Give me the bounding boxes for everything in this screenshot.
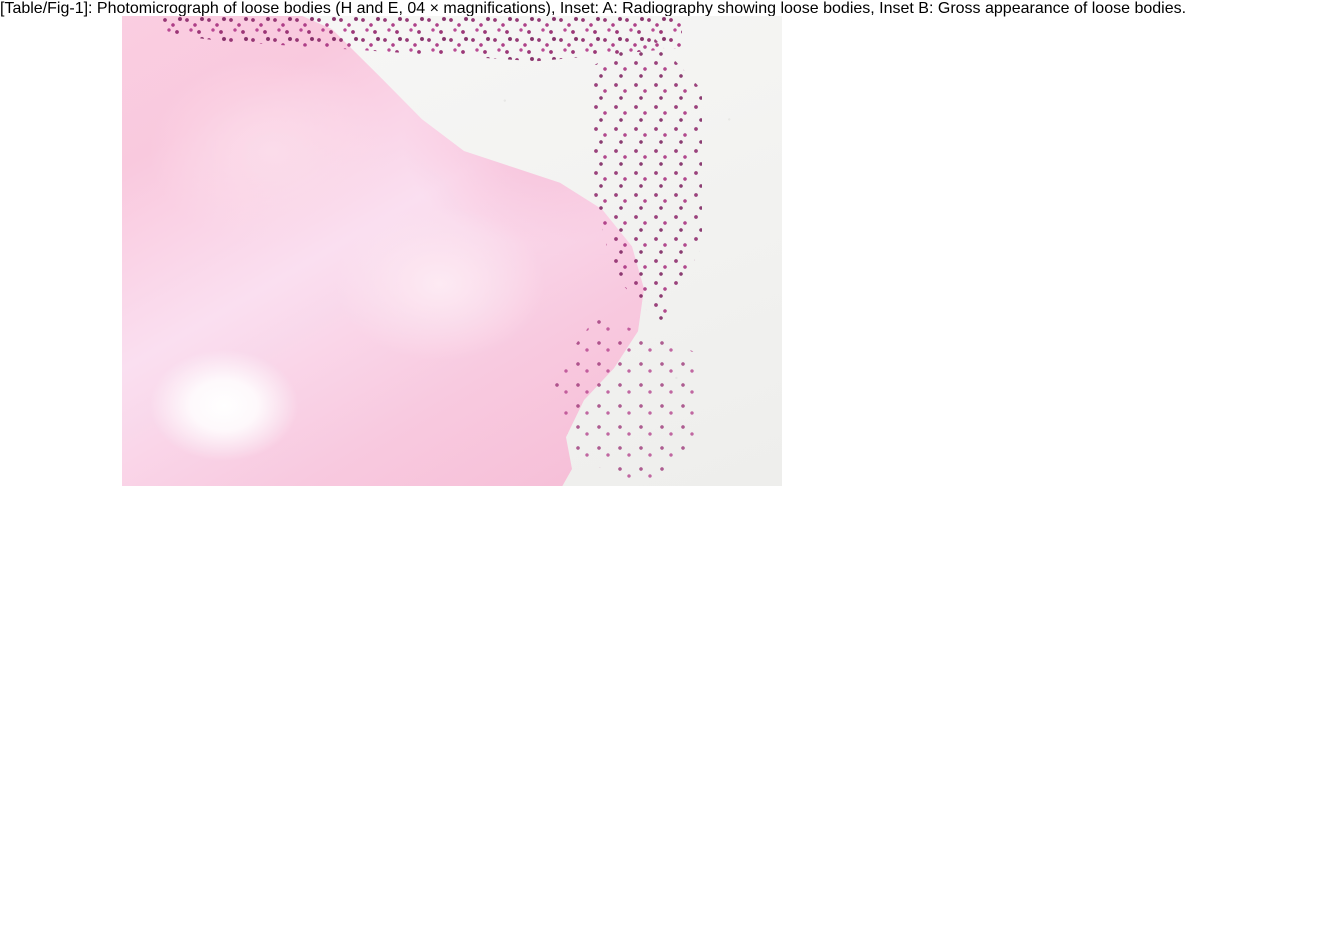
chondrocyte-cluster (414, 252, 460, 286)
chondrocyte-cluster (318, 34, 374, 74)
chondrocyte-cluster (526, 258, 556, 284)
chondrocyte-cluster (394, 42, 432, 72)
chondrocyte-cluster (318, 260, 352, 286)
caption-line-1: [Table/Fig-1]: Photomicrograph of loose … (0, 0, 555, 17)
caption-line-2: Inset: A: Radiography showing loose bodi… (560, 0, 981, 17)
chondrocyte-cluster (566, 302, 596, 326)
chondrocyte-cluster (440, 448, 470, 472)
chondrocyte-cluster (352, 124, 378, 146)
chondrocyte-cluster (250, 46, 298, 82)
chondrocyte-cluster (186, 112, 230, 146)
chondrocyte-cluster (422, 162, 456, 188)
chondrocyte-cluster (214, 442, 244, 466)
chondrocyte-cluster (362, 430, 406, 462)
chondrocyte-cluster (474, 222, 512, 252)
chondrocyte-cluster (282, 136, 312, 160)
empty-lacuna (122, 16, 135, 29)
chondrocyte-cluster (242, 336, 270, 360)
chondrocyte-cluster (460, 352, 504, 384)
chondrocyte-cluster (222, 202, 252, 228)
chondrocyte-cluster (270, 238, 292, 258)
chondrocyte-cluster (480, 134, 508, 156)
chondrocyte-cluster (558, 136, 592, 164)
chondrocyte-cluster (592, 408, 622, 432)
chondrocyte-cluster (608, 268, 634, 290)
caption-line-3: appearance of loose bodies. (985, 0, 1186, 17)
chondrocyte-cluster (184, 222, 210, 244)
chondrocyte-lacunae-layer (122, 16, 782, 486)
chondrocyte-cluster (128, 252, 178, 294)
chondrocyte-cluster (288, 446, 324, 474)
chondrocyte-cluster (320, 366, 354, 394)
chondrocyte-cluster (542, 366, 576, 394)
chondrocyte-cluster (502, 416, 542, 446)
chondrocyte-cluster (368, 228, 396, 252)
photomicrograph-image: A (122, 16, 782, 486)
chondrocyte-cluster (390, 336, 446, 376)
chondrocyte-cluster (168, 362, 194, 384)
chondrocyte-cluster (580, 206, 608, 230)
chondrocyte-cluster (134, 414, 168, 442)
figure-block: A (122, 16, 782, 486)
